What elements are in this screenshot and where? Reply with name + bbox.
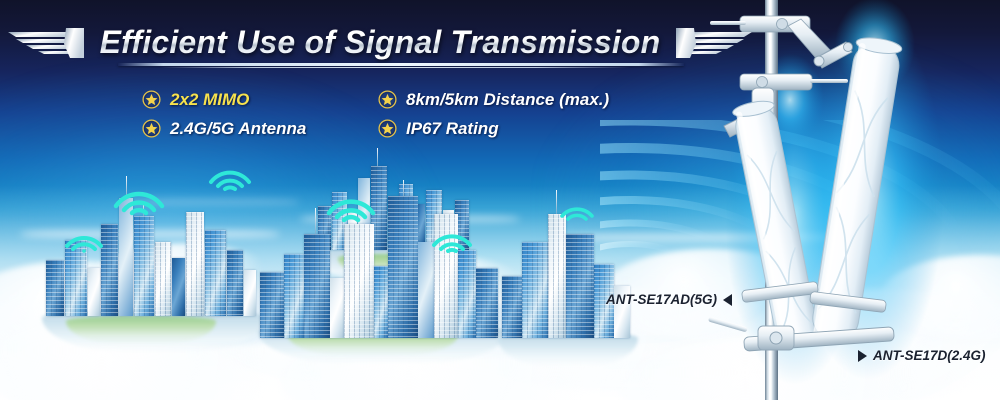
feature-label: 8km/5km Distance (max.): [406, 90, 609, 110]
star-icon: [378, 119, 397, 138]
product-callout-5g: ANT-SE17AD(5G): [606, 292, 732, 307]
feature-list: 2x2 MIMO 8km/5km Distance (max.) 2.4: [142, 85, 609, 143]
wifi-signal-icon-1: [62, 222, 106, 252]
product-banner: Efficient Use of Signal Transmission: [0, 0, 1000, 400]
product-callout-24g: ANT-SE17D(2.4G): [858, 348, 986, 363]
arrow-right-icon: [858, 350, 867, 362]
title-underline-secondary: [160, 67, 630, 68]
star-icon: [142, 119, 161, 138]
product-callout-label: ANT-SE17AD(5G): [606, 292, 717, 307]
feature-label: IP67 Rating: [406, 119, 499, 139]
wifi-signal-icon-4: [207, 158, 253, 190]
feature-item-mimo: 2x2 MIMO: [142, 85, 370, 114]
star-icon: [142, 90, 161, 109]
wifi-signal-icon-3: [325, 186, 377, 222]
feature-item-distance: 8km/5km Distance (max.): [378, 85, 609, 114]
wifi-signal-icon-6: [558, 196, 596, 222]
title-underline: [118, 63, 684, 66]
banner-header: Efficient Use of Signal Transmission: [0, 14, 760, 84]
feature-item-ip67: IP67 Rating: [378, 114, 609, 143]
feature-item-antenna: 2.4G/5G Antenna: [142, 114, 370, 143]
feature-label: 2x2 MIMO: [170, 90, 249, 110]
wifi-signal-icon-2: [112, 178, 166, 214]
page-title: Efficient Use of Signal Transmission: [88, 24, 673, 61]
arrow-left-icon: [723, 294, 732, 306]
product-callout-label: ANT-SE17D(2.4G): [873, 348, 986, 363]
city-cluster-left: [40, 196, 270, 352]
wing-left-icon: [6, 18, 88, 66]
star-icon: [378, 90, 397, 109]
feature-label: 2.4G/5G Antenna: [170, 119, 306, 139]
wifi-signal-icon-5: [430, 222, 474, 252]
wing-right-icon: [672, 18, 754, 66]
city-cluster-right: [498, 216, 638, 366]
